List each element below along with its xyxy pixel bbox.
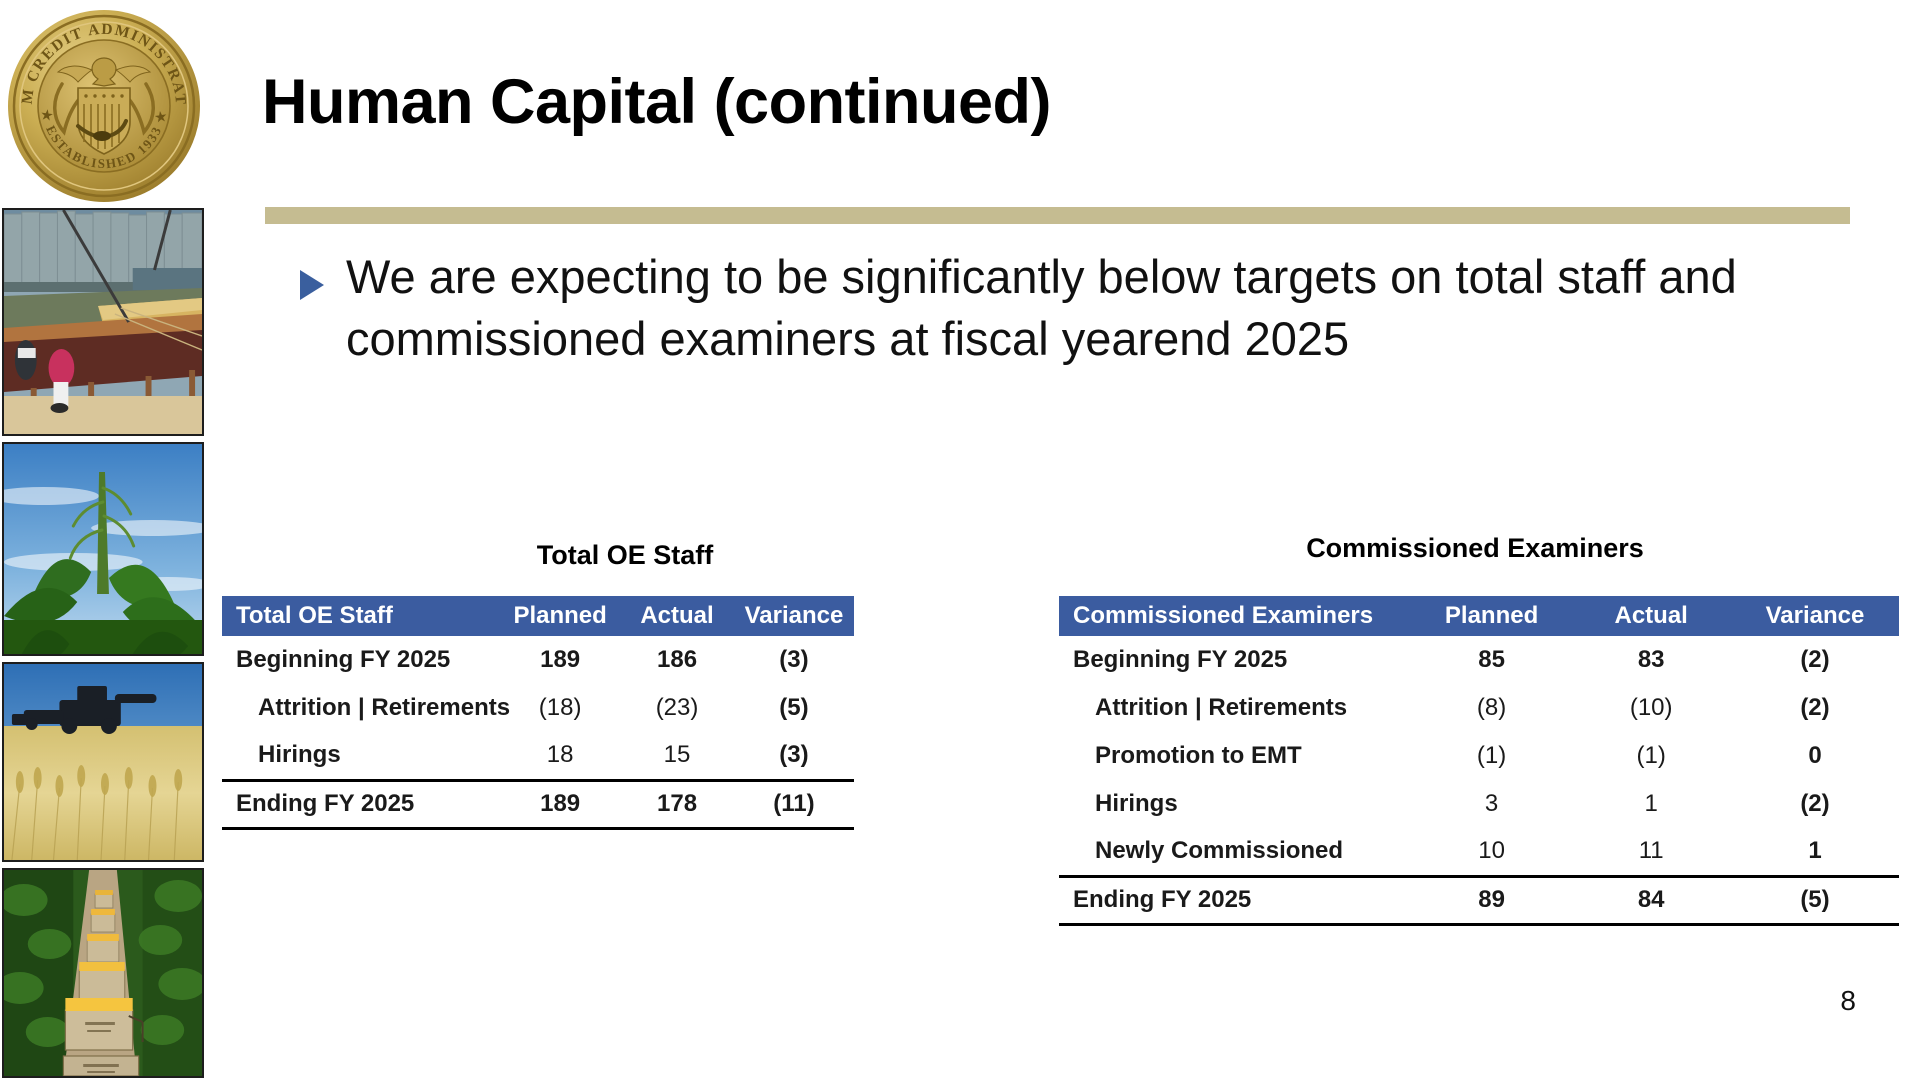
cell-planned: 189 [500, 780, 620, 828]
column-header-actual: Actual [620, 596, 734, 636]
table-header-row: Commissioned Examiners Planned Actual Va… [1059, 596, 1899, 636]
cell-variance: (5) [1731, 876, 1899, 924]
cell-planned: 85 [1412, 636, 1572, 684]
total-oe-staff-table-caption: Total OE Staff [390, 540, 860, 571]
cell-actual: 1 [1571, 780, 1731, 828]
row-label: Ending FY 2025 [1059, 876, 1412, 924]
table-row: Attrition | Retirements (8) (10) (2) [1059, 684, 1899, 732]
presentation-slide: FARM CREDIT ADMINISTRATION ★ ESTABLISHED… [0, 0, 1920, 1080]
cell-variance: (3) [734, 732, 854, 780]
row-label: Hirings [1059, 780, 1412, 828]
grain-elevator-truck-photo [2, 208, 204, 436]
table-row: Hirings 18 15 (3) [222, 732, 854, 780]
cell-planned: (18) [500, 684, 620, 732]
photo-rail: FARM CREDIT ADMINISTRATION ★ ESTABLISHED… [0, 0, 208, 1080]
cell-actual: 11 [1571, 828, 1731, 876]
commissioned-examiners-table: Commissioned Examiners Planned Actual Va… [1059, 596, 1899, 926]
cell-actual: (10) [1571, 684, 1731, 732]
cell-actual: 178 [620, 780, 734, 828]
row-label: Attrition | Retirements [222, 684, 500, 732]
table-row: Attrition | Retirements (18) (23) (5) [222, 684, 854, 732]
row-label: Beginning FY 2025 [1059, 636, 1412, 684]
cell-variance: (5) [734, 684, 854, 732]
cell-actual: 84 [1571, 876, 1731, 924]
cell-actual: 83 [1571, 636, 1731, 684]
cell-variance: (2) [1731, 780, 1899, 828]
cornfield-photo [2, 442, 204, 656]
cell-actual: (23) [620, 684, 734, 732]
commissioned-examiners-table-caption: Commissioned Examiners [1185, 533, 1765, 564]
row-label: Hirings [222, 732, 500, 780]
row-label: Attrition | Retirements [1059, 684, 1412, 732]
column-header-planned: Planned [1412, 596, 1572, 636]
cell-variance: (11) [734, 780, 854, 828]
page-number: 8 [1840, 985, 1856, 1017]
row-label: Newly Commissioned [1059, 828, 1412, 876]
cell-variance: (2) [1731, 684, 1899, 732]
table-row: Newly Commissioned 10 11 1 [1059, 828, 1899, 876]
column-header-variance: Variance [734, 596, 854, 636]
citrus-harvest-crates-photo [2, 868, 204, 1078]
column-header-label: Commissioned Examiners [1059, 596, 1412, 636]
row-label: Beginning FY 2025 [222, 636, 500, 684]
cell-variance: (3) [734, 636, 854, 684]
table-row: Beginning FY 2025 85 83 (2) [1059, 636, 1899, 684]
cell-planned: 10 [1412, 828, 1572, 876]
total-oe-staff-table: Total OE Staff Planned Actual Variance B… [222, 596, 854, 830]
row-label: Ending FY 2025 [222, 780, 500, 828]
cell-planned: 189 [500, 636, 620, 684]
cell-variance: 0 [1731, 732, 1899, 780]
table-total-row: Ending FY 2025 189 178 (11) [222, 780, 854, 828]
cell-planned: (1) [1412, 732, 1572, 780]
cell-actual: 15 [620, 732, 734, 780]
farm-credit-administration-seal: FARM CREDIT ADMINISTRATION ★ ESTABLISHED… [4, 6, 204, 202]
cell-variance: 1 [1731, 828, 1899, 876]
title-divider-rule [265, 207, 1850, 224]
cell-planned: 89 [1412, 876, 1572, 924]
cell-actual: 186 [620, 636, 734, 684]
triangle-bullet-icon [300, 270, 324, 300]
column-header-variance: Variance [1731, 596, 1899, 636]
table-row: Hirings 3 1 (2) [1059, 780, 1899, 828]
cell-actual: (1) [1571, 732, 1731, 780]
cell-planned: (8) [1412, 684, 1572, 732]
table-row: Promotion to EMT (1) (1) 0 [1059, 732, 1899, 780]
wheat-harvest-combine-photo [2, 662, 204, 862]
column-header-planned: Planned [500, 596, 620, 636]
column-header-actual: Actual [1571, 596, 1731, 636]
bullet-list: We are expecting to be significantly bel… [300, 246, 1800, 370]
cell-planned: 18 [500, 732, 620, 780]
bullet-item-text: We are expecting to be significantly bel… [346, 246, 1766, 370]
table-header-row: Total OE Staff Planned Actual Variance [222, 596, 854, 636]
cell-variance: (2) [1731, 636, 1899, 684]
cell-planned: 3 [1412, 780, 1572, 828]
page-title: Human Capital (continued) [262, 66, 1051, 138]
row-label: Promotion to EMT [1059, 732, 1412, 780]
table-total-row: Ending FY 2025 89 84 (5) [1059, 876, 1899, 924]
column-header-label: Total OE Staff [222, 596, 500, 636]
table-row: Beginning FY 2025 189 186 (3) [222, 636, 854, 684]
